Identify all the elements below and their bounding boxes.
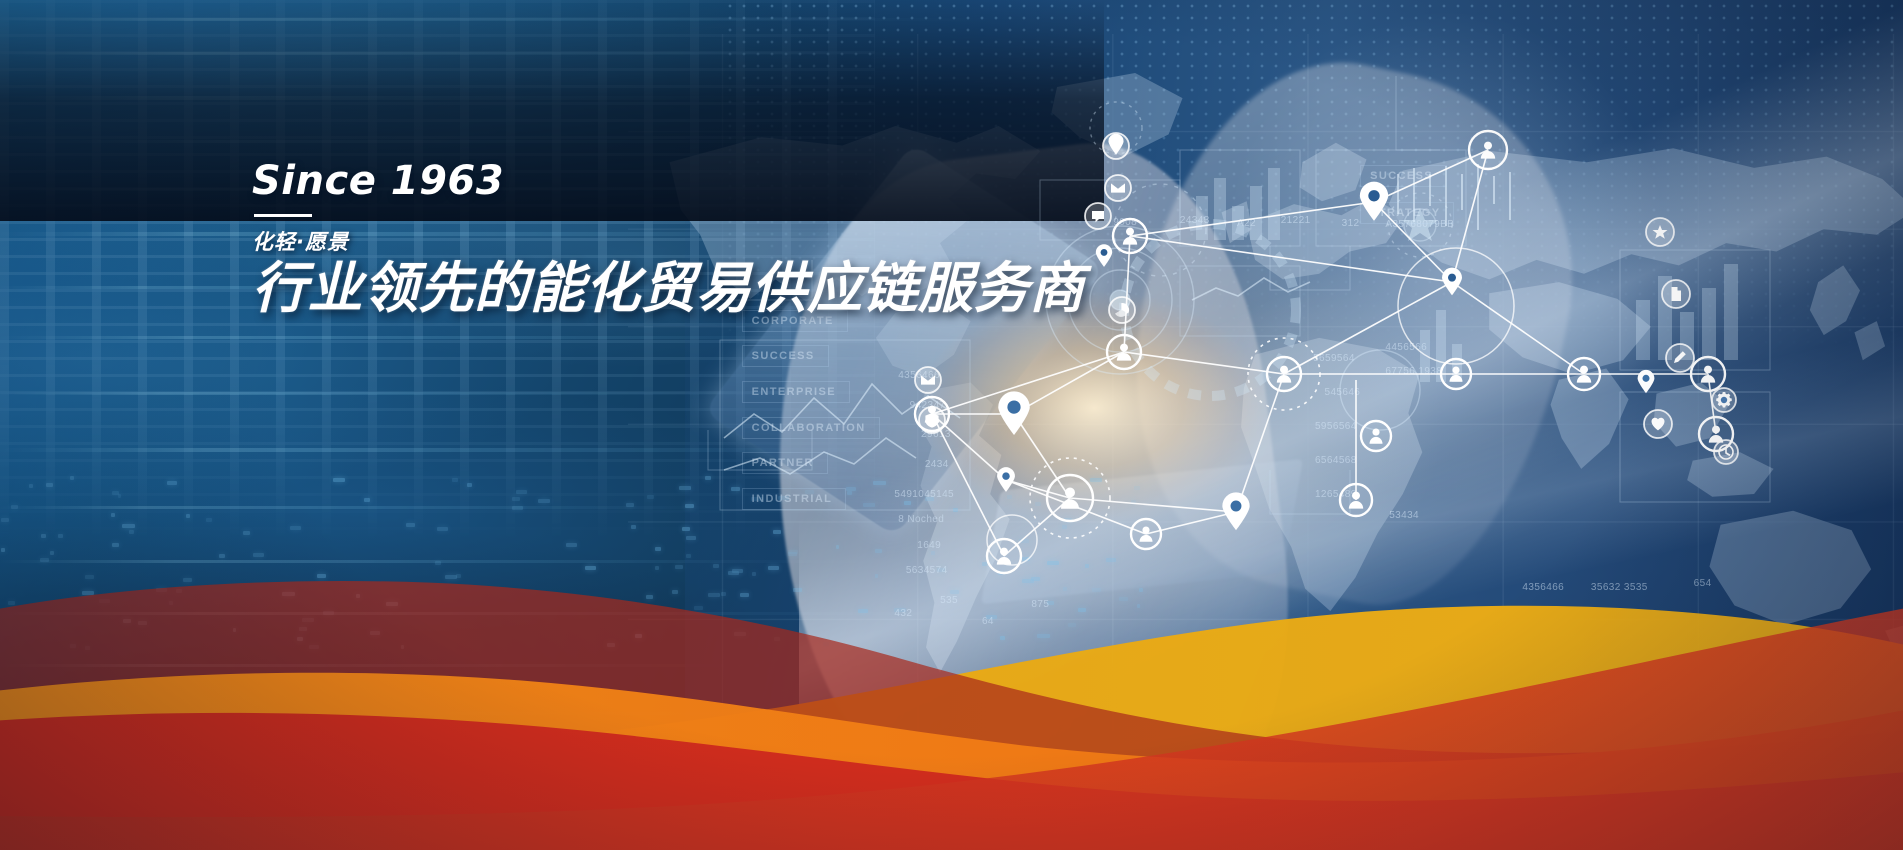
page-title: 行业领先的能化贸易供应链服务商: [252, 258, 1072, 319]
hero-banner: CORPORATESUCCESSENTERPRISECOLLABORATIONP…: [0, 0, 1903, 850]
hero-copy: Since 1963 化轻·愿景 行业领先的能化贸易供应链服务商: [252, 160, 1072, 319]
divider-rule: [254, 214, 312, 217]
background-vignette: [0, 0, 1903, 850]
subtitle-vision: 化轻·愿景: [252, 226, 1072, 256]
eyebrow-since-1963: Since 1963: [252, 160, 1072, 203]
